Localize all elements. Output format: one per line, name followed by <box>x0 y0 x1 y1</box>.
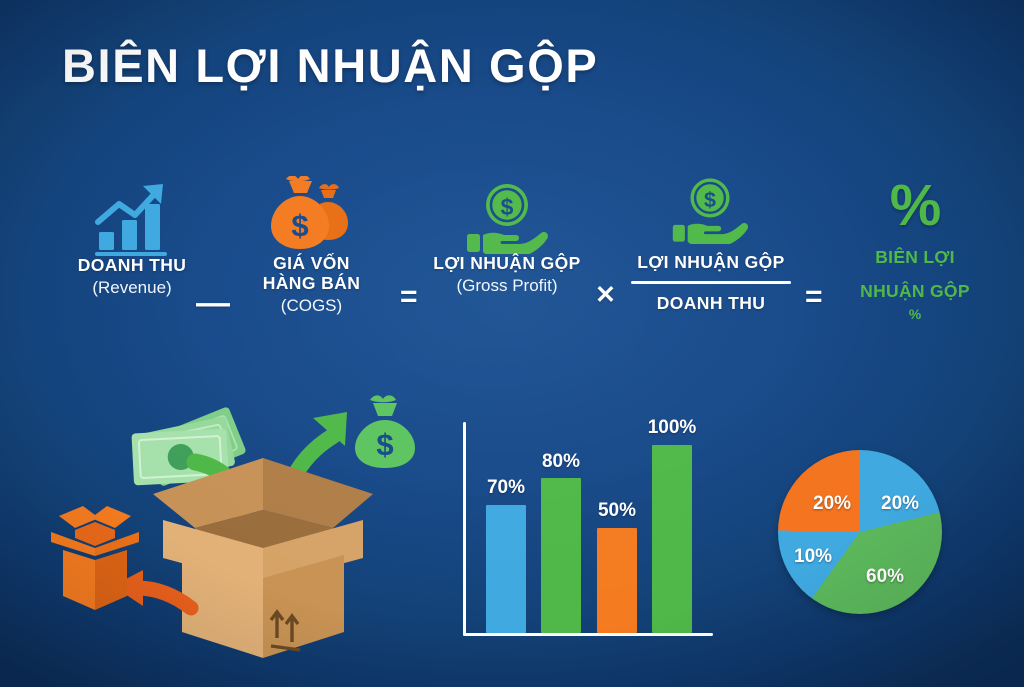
formula-term-gross-profit: $ LỢI NHUẬN GỘP (Gross Profit) <box>427 182 587 296</box>
fraction-bar <box>631 281 791 284</box>
infographic-canvas: BIÊN LỢI NHUẬN GỘP DOANH THU (Revenue) — <box>0 0 1024 687</box>
bar-3 <box>652 445 692 633</box>
money-bags-icon: $ <box>244 176 379 254</box>
bar-chart: 70% 80% 50% 100% <box>455 405 720 645</box>
operator-minus: — <box>196 286 230 320</box>
pie-label-0: 20% <box>881 493 919 515</box>
formula-term-gross-profit-sub: (Gross Profit) <box>427 275 587 296</box>
percent-symbol-icon: % <box>840 178 990 233</box>
bar-label-2: 50% <box>587 500 647 522</box>
formula-term-cogs-label-line2: HÀNG BÁN <box>244 274 379 294</box>
result-label-line2: NHUẬN GỘP <box>840 281 990 301</box>
pie-label-2: 10% <box>794 546 832 568</box>
bar-label-0: 70% <box>476 477 536 499</box>
formula-result: % BIÊN LỢI NHUẬN GỘP % <box>840 178 990 322</box>
formula-term-cogs-sub: (COGS) <box>244 295 379 316</box>
operator-equals-2: = <box>805 282 823 312</box>
bar-chart-y-axis <box>463 422 466 636</box>
svg-text:$: $ <box>501 194 514 220</box>
formula-term-cogs: $ GIÁ VỐN HÀNG BÁN (COGS) <box>244 176 379 316</box>
formula-term-gross-profit-label: LỢI NHUẬN GỘP <box>427 254 587 274</box>
bar-label-1: 80% <box>531 451 591 473</box>
fraction-numerator: LỢI NHUẬN GỘP <box>627 252 795 273</box>
operator-equals-1: = <box>400 282 418 312</box>
bar-1 <box>541 478 581 633</box>
formula-term-revenue-sub: (Revenue) <box>52 277 212 298</box>
hand-coin-icon: $ <box>427 182 587 254</box>
fraction-denominator: DOANH THU <box>627 293 795 314</box>
bar-2 <box>597 528 637 633</box>
bar-label-3: 100% <box>635 417 709 439</box>
svg-text:$: $ <box>704 188 716 212</box>
operator-times: ✕ <box>595 283 616 308</box>
bar-0 <box>486 505 526 633</box>
formula-fraction: LỢI NHUẬN GỘP DOANH THU <box>627 252 795 314</box>
formula-fraction-icon-wrap: $ <box>665 176 755 244</box>
box-money-illustration: $ <box>45 370 455 660</box>
pie-label-3: 20% <box>813 493 851 515</box>
pie-label-1: 60% <box>866 566 904 588</box>
bar-chart-x-axis <box>463 633 713 636</box>
money-bag-green-icon: $ <box>355 395 415 468</box>
result-label-line1: BIÊN LỢI <box>840 247 990 267</box>
formula-term-revenue: DOANH THU (Revenue) <box>52 182 212 298</box>
cardboard-box-icon <box>153 458 373 658</box>
svg-text:$: $ <box>291 208 308 243</box>
formula-term-cogs-label-line1: GIÁ VỐN <box>244 254 379 274</box>
result-unit: % <box>840 306 990 322</box>
svg-text:$: $ <box>376 427 393 462</box>
pie-chart: 20% 60% 10% 20% <box>778 450 942 614</box>
hand-coin-icon: $ <box>665 176 755 244</box>
pie-slices <box>778 450 942 614</box>
small-orange-box-icon <box>51 506 139 610</box>
page-title: BIÊN LỢI NHUẬN GỘP <box>62 38 598 93</box>
growth-bar-chart-icon <box>52 182 212 256</box>
formula-term-revenue-label: DOANH THU <box>52 256 212 276</box>
